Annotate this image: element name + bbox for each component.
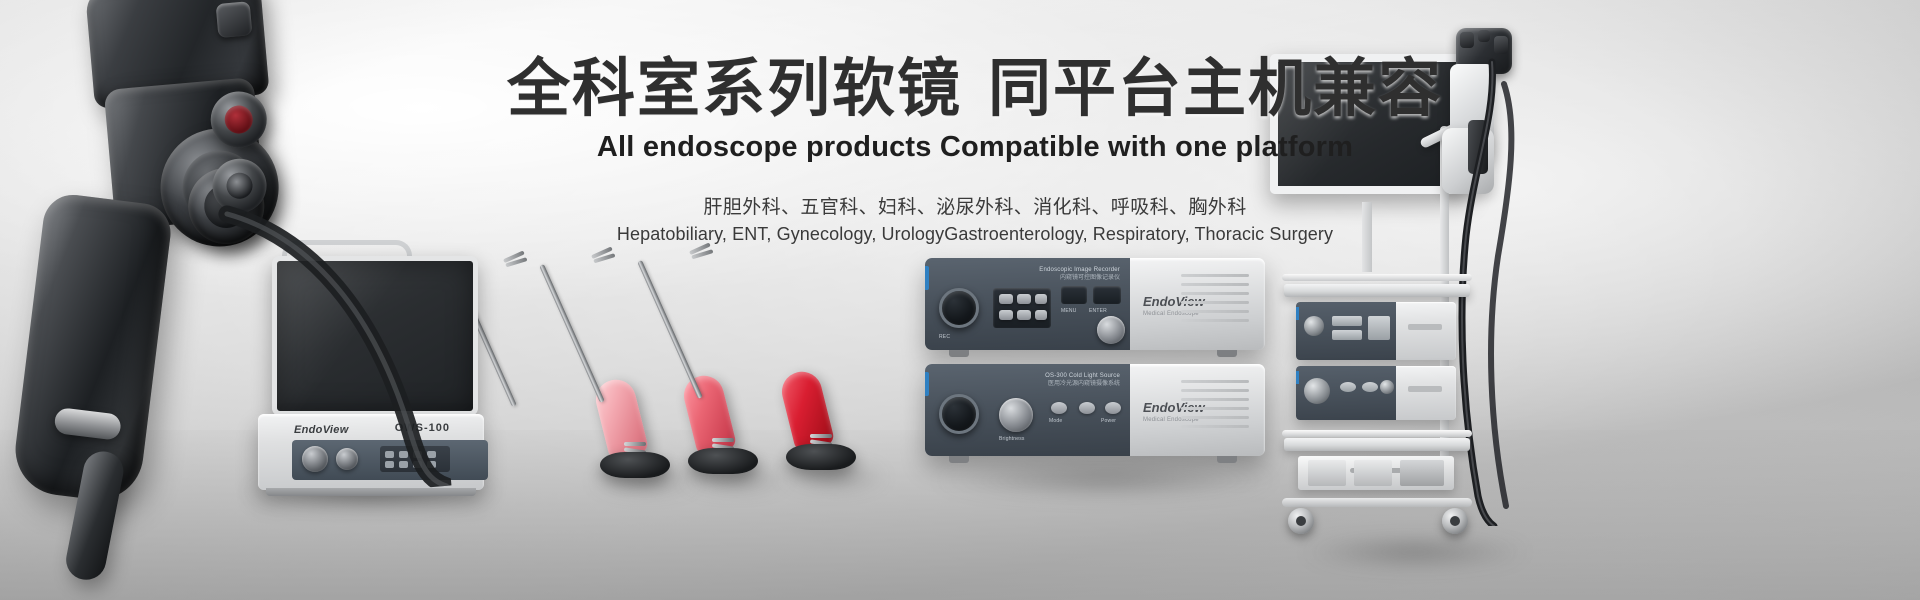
light-source-btn-mode — [1051, 402, 1067, 414]
light-source-optical-port — [939, 394, 979, 434]
cart-module-2-vent — [1408, 386, 1442, 392]
recorder-vents — [1181, 274, 1249, 332]
cart-module-1-display — [1368, 316, 1390, 340]
cart-accessory-1 — [1308, 460, 1346, 486]
light-source-title-en: OS-300 Cold Light Source — [1045, 372, 1120, 380]
light-source-label-mode: Mode — [1049, 418, 1062, 424]
cart-module-2 — [1296, 366, 1456, 420]
cart-module-1-btn-2 — [1332, 330, 1362, 340]
light-source-brightness-dial — [999, 398, 1033, 432]
recorder-btn-f — [1035, 310, 1047, 320]
recorder-btn-c — [1035, 294, 1047, 304]
cart-shelf-rail-bottom — [1282, 430, 1472, 437]
cart-module-2-knob — [1304, 378, 1330, 404]
recorder-btn-d — [999, 310, 1013, 320]
cart-module-2-btn-2 — [1362, 382, 1378, 392]
laparoscopic-instrument-red — [698, 246, 878, 486]
light-source-btn-power — [1105, 402, 1121, 414]
light-source-btn-extra — [1079, 402, 1095, 414]
page-title: 全科室系列软镜同平台主机兼容 — [30, 54, 1920, 125]
headline-part-1: 全科室系列软镜 — [507, 54, 962, 124]
specialties-chinese: 肝胆外科、五官科、妇科、泌尿外科、消化科、呼吸科、胸外科 — [30, 192, 1920, 219]
recorder-title-cn: 内窥镜可控图像记录仪 — [1039, 274, 1120, 282]
endoscopy-equipment-stack: Endoscopic Image Recorder 内窥镜可控图像记录仪 MEN… — [925, 258, 1275, 473]
light-source-label-power: Power — [1101, 418, 1116, 424]
light-source-foot-left — [949, 456, 969, 463]
cart-wheel-right — [1442, 508, 1468, 534]
light-source-vents — [1181, 380, 1249, 438]
recorder-btn-b — [1017, 294, 1031, 304]
recorder-label-rec: REC — [939, 334, 950, 340]
recorder-title-en: Endoscopic Image Recorder — [1039, 266, 1120, 274]
light-source-front-panel: OS-300 Cold Light Source 医用冷光源内窥镜摄像系统 Br… — [925, 364, 1130, 456]
cart-accessory-3 — [1400, 460, 1444, 486]
cart-wheel-left — [1288, 508, 1314, 534]
recorder-secondary-dial — [1097, 316, 1125, 344]
recorder-front-panel: Endoscopic Image Recorder 内窥镜可控图像记录仪 MEN… — [925, 258, 1130, 350]
cart-shelf-rail-top — [1282, 274, 1472, 281]
cart-module-1 — [1296, 302, 1456, 360]
recorder-label-enter: ENTER — [1089, 308, 1107, 314]
light-source-title-cn: 医用冷光源内窥镜摄像系统 — [1045, 380, 1120, 388]
recorder-display-small — [1061, 286, 1087, 304]
instrument-jaw — [502, 244, 540, 272]
cart-base-bar — [1282, 498, 1472, 507]
recorder-btn-a — [999, 294, 1013, 304]
light-source-foot-right — [1217, 456, 1237, 463]
cart-module-1-vent — [1408, 324, 1442, 330]
light-source-title-block: OS-300 Cold Light Source 医用冷光源内窥镜摄像系统 — [1045, 372, 1120, 388]
instrument-base — [786, 444, 856, 470]
cart-module-1-btn-1 — [1332, 316, 1362, 326]
headline-part-2: 同平台主机兼容 — [988, 54, 1443, 124]
banner-text-block: 全科室系列软镜同平台主机兼容 All endoscope products Co… — [0, 54, 1920, 245]
cart-module-1-knob — [1304, 316, 1324, 336]
cart-accessory-2 — [1354, 460, 1392, 486]
recorder-btn-e — [1017, 310, 1031, 320]
cart-module-2-btn-1 — [1340, 382, 1356, 392]
image-recorder-unit: Endoscopic Image Recorder 内窥镜可控图像记录仪 MEN… — [925, 258, 1265, 350]
recorder-label-menu: MENU — [1061, 308, 1077, 314]
specialties-english: Hepatobiliary, ENT, Gynecology, UrologyG… — [30, 224, 1920, 245]
cart-module-2-indicator — [1380, 380, 1394, 394]
product-banner: 全科室系列软镜同平台主机兼容 All endoscope products Co… — [0, 0, 1920, 600]
recorder-usb-port — [1093, 286, 1121, 304]
cart-shelf-bottom — [1284, 438, 1470, 451]
scope-button-3 — [216, 1, 253, 38]
recorder-foot-right — [1217, 350, 1237, 357]
recorder-foot-left — [949, 350, 969, 357]
cold-light-source-unit: OS-300 Cold Light Source 医用冷光源内窥镜摄像系统 Br… — [925, 364, 1265, 456]
recorder-main-knob — [939, 288, 979, 328]
banner-tagline: All endoscope products Compatible with o… — [30, 131, 1920, 164]
light-source-label-brightness: Brightness — [999, 436, 1025, 442]
recorder-title-block: Endoscopic Image Recorder 内窥镜可控图像记录仪 — [1039, 266, 1120, 282]
cart-shelf-top — [1284, 284, 1470, 297]
